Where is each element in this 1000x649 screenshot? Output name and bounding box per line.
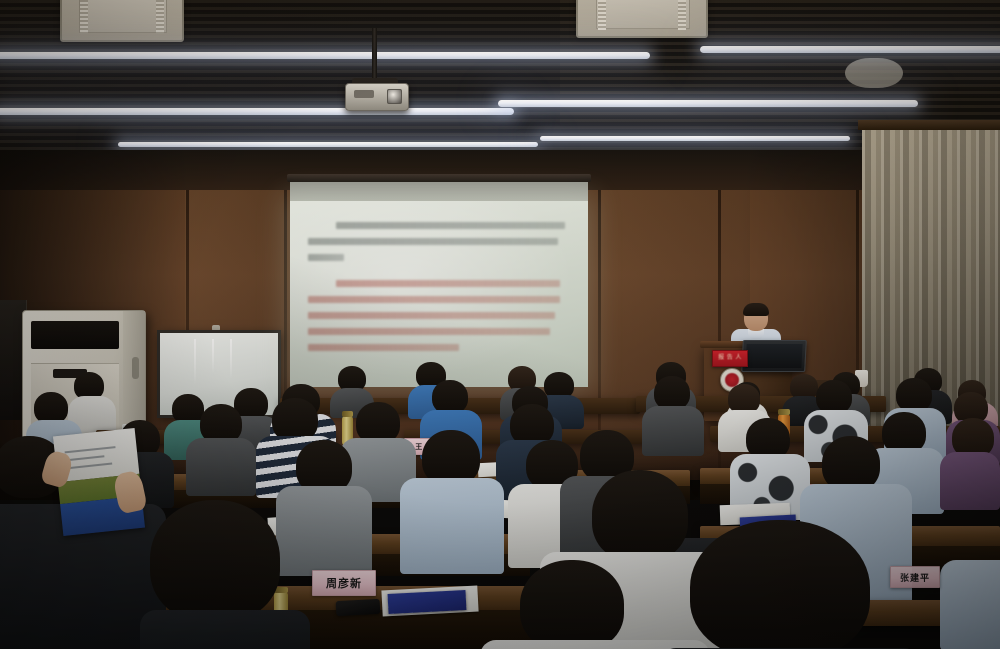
projection-screen: [290, 180, 588, 387]
ac-cassette-right-icon: [576, 0, 708, 38]
screen-casing: [287, 174, 591, 182]
ceiling-strip-light: [700, 46, 1000, 53]
ac-cassette-left-icon: [60, 0, 184, 42]
presenter-laptop: [741, 340, 807, 372]
lecture-hall-photo: 报 告 人: [0, 0, 1000, 649]
podium-sign-label: 报 告 人: [713, 351, 747, 366]
screen-header-band: [290, 182, 588, 201]
name-card: 张建平: [890, 566, 940, 588]
ceiling-strip-light: [0, 52, 650, 59]
blue-document-folder: [388, 590, 467, 614]
ceiling-strip-light: [0, 108, 514, 115]
ceiling-strip-light: [498, 100, 918, 107]
ceiling-strip-light: [540, 136, 850, 141]
podium-sign: 报 告 人: [712, 350, 748, 367]
ceiling-speaker-icon: [845, 58, 903, 88]
name-card: 周彦新: [312, 570, 376, 596]
curtain-rod: [858, 120, 1000, 130]
projector-icon: [345, 83, 409, 111]
smartphone-on-desk: [336, 599, 381, 616]
screen-shadow: [290, 201, 588, 387]
ceiling-strip-light: [118, 142, 538, 147]
